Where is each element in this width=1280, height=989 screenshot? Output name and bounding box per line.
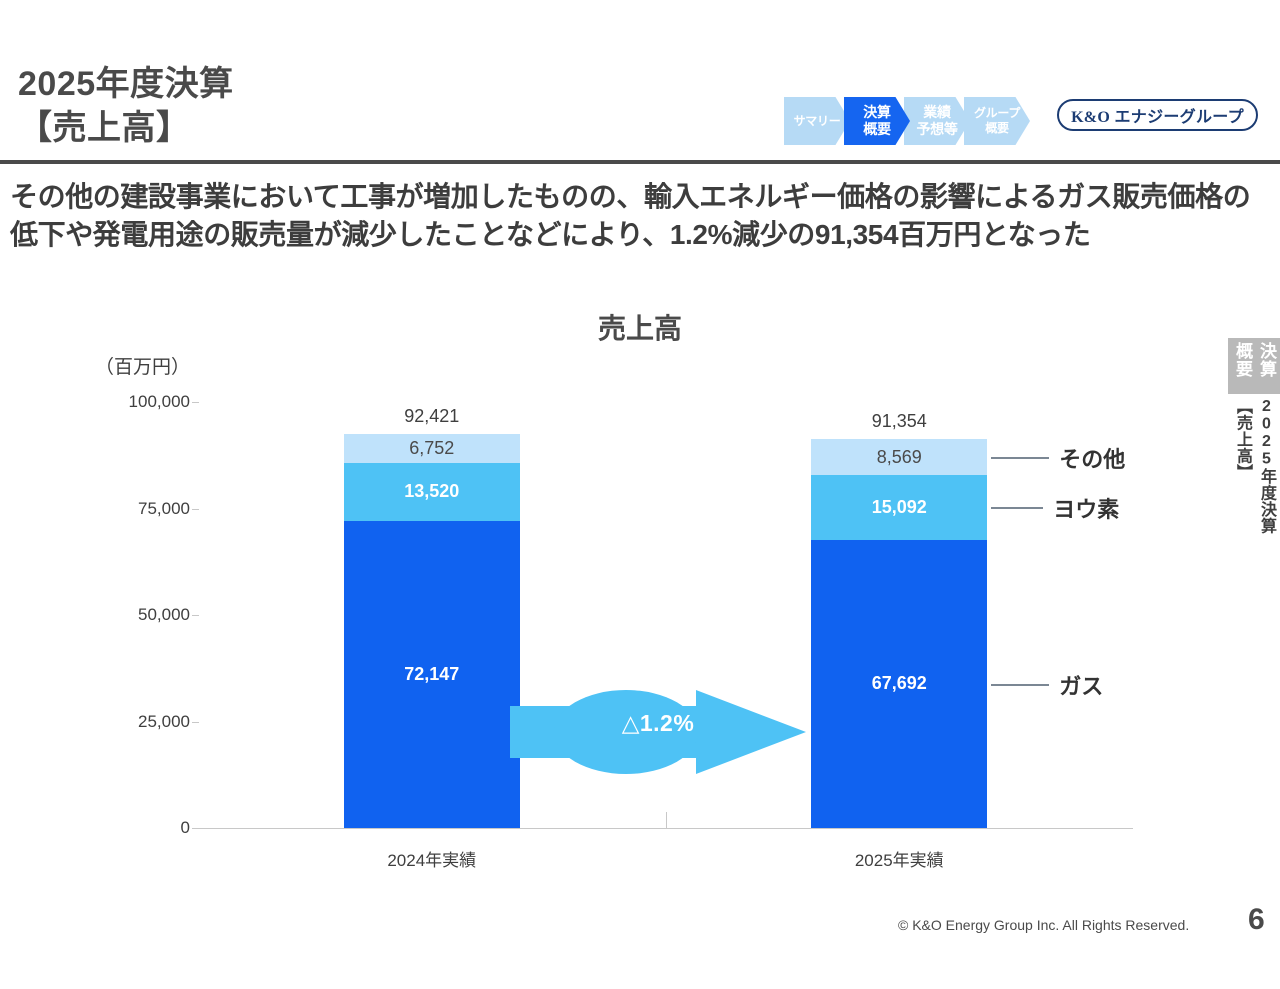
y-axis-tick-mark [192,509,199,510]
legend-leader-line [991,684,1049,686]
bar-segment-label: 15,092 [872,497,927,518]
y-axis-tick-labels: 025,00050,00075,000100,000 [95,295,190,885]
bar-segment[interactable]: 8,569 [811,439,987,476]
nav-tab-results-overview-label: 決算 概要 [863,104,890,138]
page-title: 2025年度決算 【売上高】 [18,62,234,150]
legend-item-ガス: ガス [991,669,1103,701]
bar-segment-label: 67,692 [872,673,927,694]
nav-tab-forecast-label: 業績 予想等 [916,104,957,138]
bar-segment-label: 8,569 [877,447,922,468]
side-tab-body-left-label: 【売上高】 [1231,398,1254,481]
bar-segment[interactable]: 72,147 [344,521,520,828]
nav-tab-summary-label: サマリー [794,114,841,129]
legend-label: ガス [1059,669,1103,701]
bar-total-label: 92,421 [314,406,550,427]
legend-item-ヨウ素: ヨウ素 [991,492,1119,524]
x-axis-category-label: 2024年実績 [342,846,522,871]
category-divider [666,812,667,828]
chart-title: 売上高 [0,307,1280,347]
nav-tab-forecast[interactable]: 業績 予想等 [904,97,970,145]
bar-segment-label: 6,752 [409,438,454,459]
nav-tab-summary[interactable]: サマリー [784,97,850,145]
y-axis-tick-mark [192,615,199,616]
x-axis-category-label: 2025年実績 [809,846,989,871]
side-tab-head-label: 決算概要 [1230,342,1278,392]
bar-segment[interactable]: 67,692 [811,540,987,828]
bar-segment[interactable]: 15,092 [811,475,987,539]
bar-stack[interactable]: 72,14713,5206,752 [344,434,520,828]
y-axis-tick-mark [192,402,199,403]
y-axis-tick-label: 50,000 [138,605,190,625]
bar-total-label: 91,354 [781,411,1017,432]
footer-copyright: © K&O Energy Group Inc. All Rights Reser… [898,917,1189,933]
bar-segment-label: 72,147 [404,664,459,685]
bar-segment-label: 13,520 [404,481,459,502]
y-axis-tick-label: 0 [181,818,190,838]
nav-tab-group-overview-label: グループ 概要 [974,106,1020,136]
nav-tab-results-overview[interactable]: 決算 概要 [844,97,910,145]
legend-label: ヨウ素 [1053,492,1119,524]
y-axis-tick-label: 25,000 [138,712,190,732]
page-number: 6 [1248,903,1265,937]
lead-paragraph: その他の建設事業において工事が増加したものの、輸入エネルギー価格の影響によるガス… [10,178,1272,254]
bar-segment[interactable]: 6,752 [344,434,520,463]
side-tab-body: 2025年度決算 【売上高】 [1230,398,1278,603]
brand-logo-text: K&O エナジーグループ [1071,103,1244,127]
bar-segment[interactable]: 13,520 [344,463,520,521]
delta-arrow-annotation: △1.2% [508,688,808,776]
legend-leader-line [991,457,1049,459]
brand-logo: K&O エナジーグループ [1057,99,1258,131]
bar-stack[interactable]: 67,69215,0928,569 [811,439,987,828]
side-tab-body-right-label: 2025年度決算 [1255,398,1278,534]
header-divider [0,160,1280,164]
y-axis-tick-mark [192,722,199,723]
slide-header: 2025年度決算 【売上高】 サマリー 決算 概要 業績 予想等 グループ 概要… [0,0,1280,163]
legend-item-その他: その他 [991,442,1125,474]
legend-label: その他 [1059,442,1125,474]
nav-tabs: サマリー 決算 概要 業績 予想等 グループ 概要 [784,97,1024,145]
y-axis-tick-label: 100,000 [129,392,190,412]
side-section-tab: 決算概要 2025年度決算 【売上高】 [1228,338,1280,603]
chart: 売上高 （百万円） 025,00050,00075,000100,000 72,… [0,295,1280,885]
x-axis-line [198,828,1133,829]
y-axis-tick-label: 75,000 [138,499,190,519]
legend-leader-line [991,507,1043,509]
nav-tab-group-overview[interactable]: グループ 概要 [964,97,1030,145]
